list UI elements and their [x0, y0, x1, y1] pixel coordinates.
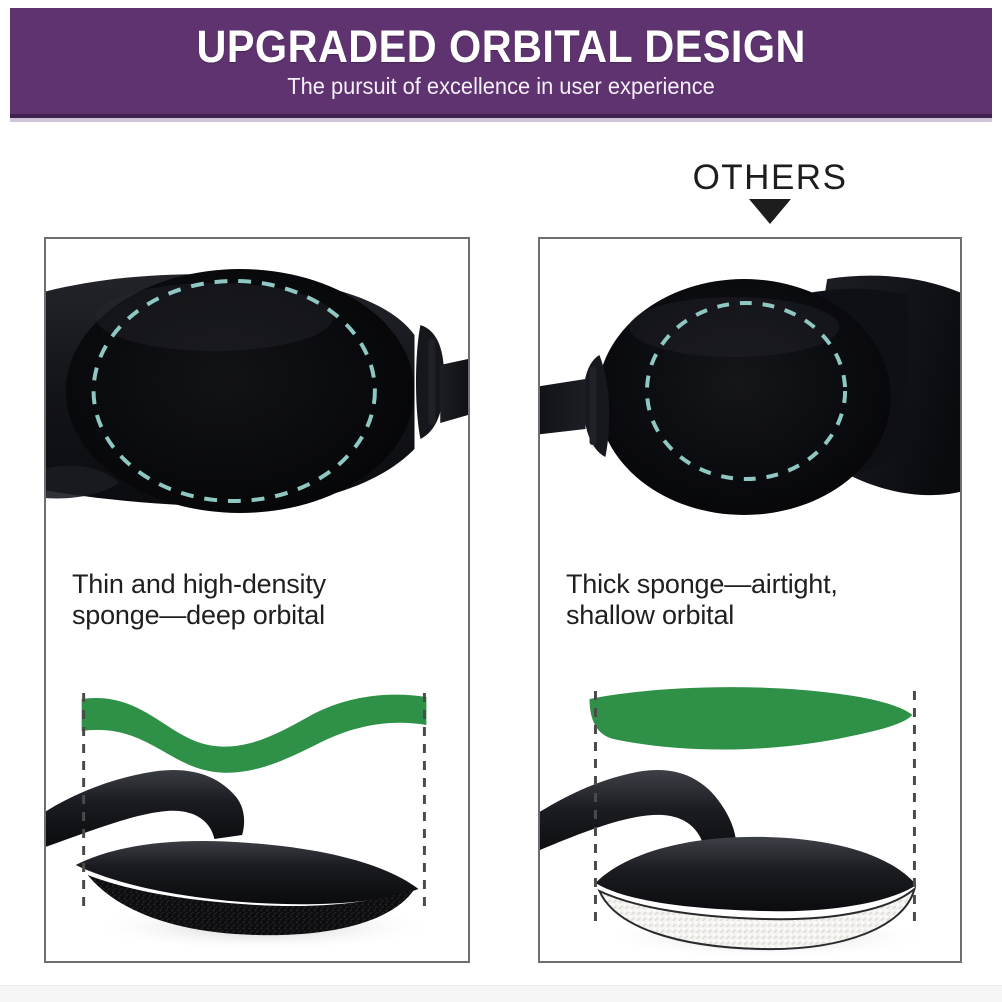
panel-others: Thick sponge—airtight, shallow orbital — [538, 237, 962, 963]
others-label: OTHERS — [650, 160, 890, 195]
profile-crescent-shape-others — [590, 687, 913, 749]
banner-subtitle: The pursuit of excellence in user experi… — [287, 75, 715, 98]
strap-ribbon-ours — [46, 770, 244, 851]
caption-others: Thick sponge—airtight, shallow orbital — [540, 569, 960, 632]
others-callout: OTHERS — [650, 160, 890, 230]
profile-wave-shape-ours — [82, 695, 427, 773]
profile-diagram-others — [540, 669, 960, 963]
panel-ours: Thin and high-density sponge—deep orbita… — [44, 237, 470, 963]
caption-others-line2: shallow orbital — [566, 600, 934, 631]
mask-shell-others — [595, 837, 916, 911]
mask-photo-ours — [46, 239, 468, 557]
caption-others-line1: Thick sponge—airtight, — [566, 569, 934, 600]
banner-title: UPGRADED ORBITAL DESIGN — [196, 24, 805, 69]
profile-diagram-ours — [46, 669, 468, 963]
header-banner: UPGRADED ORBITAL DESIGN The pursuit of e… — [10, 8, 992, 118]
mask-photo-others — [540, 239, 960, 557]
caption-ours: Thin and high-density sponge—deep orbita… — [46, 569, 468, 632]
mask-strap-others — [540, 379, 586, 435]
caption-ours-line1: Thin and high-density — [72, 569, 442, 600]
caption-ours-line2: sponge—deep orbital — [72, 600, 442, 631]
down-triangle-icon — [749, 199, 791, 224]
banner-underline-rule — [10, 118, 992, 122]
footer-strip — [0, 985, 1002, 1002]
infographic-page: UPGRADED ORBITAL DESIGN The pursuit of e… — [0, 0, 1002, 1002]
mask-strap — [440, 359, 468, 423]
